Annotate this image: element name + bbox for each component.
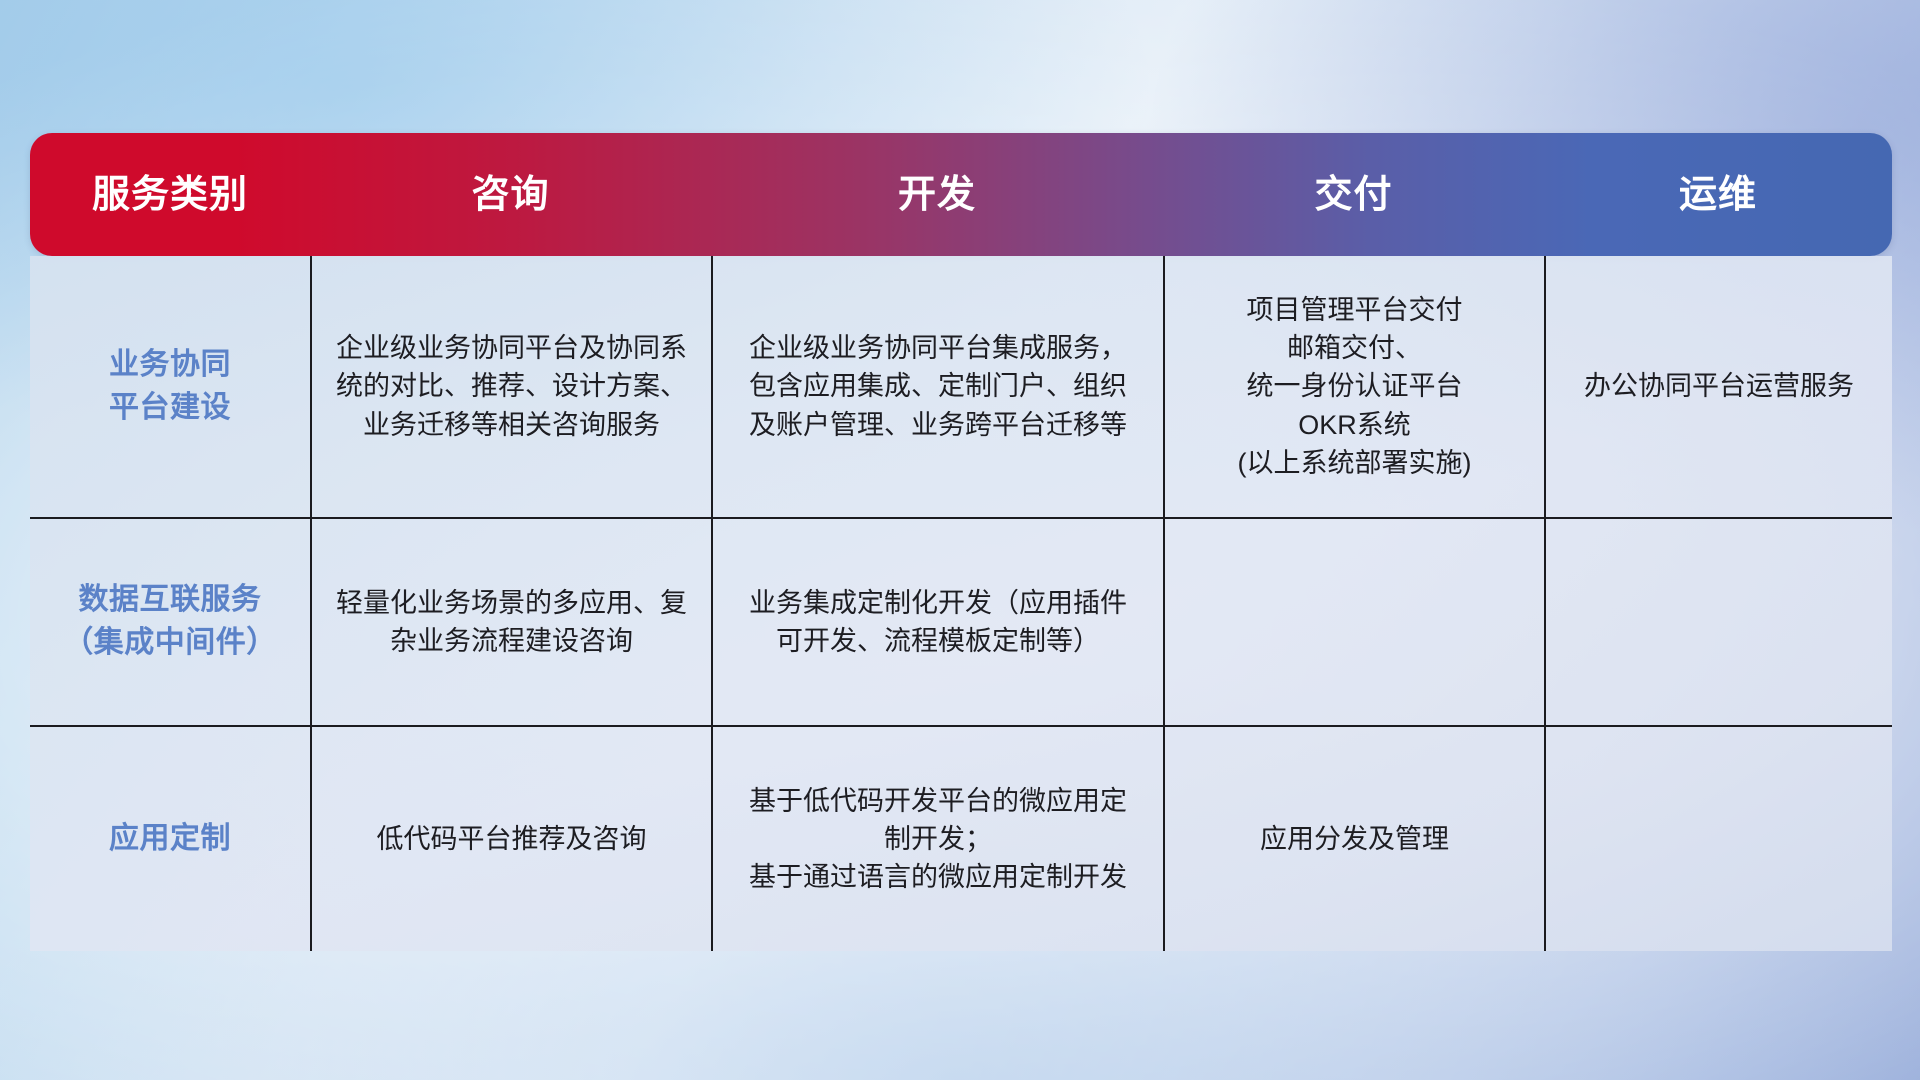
table-header-row: 服务类别 咨询 开发 交付 运维 [30,133,1892,256]
table-row: 数据互联服务 （集成中间件） 轻量化业务场景的多应用、复 杂业务流程建设咨询 业… [30,517,1892,725]
cell-consulting-row3: 低代码平台推荐及咨询 [310,727,711,951]
column-header-operations: 运维 [1544,176,1892,214]
cell-text: 办公协同平台运营服务 [1584,367,1854,405]
table-row: 业务协同 平台建设 企业级业务协同平台及协同系 统的对比、推荐、设计方案、 业务… [30,256,1892,517]
column-header-consulting: 咨询 [310,176,711,214]
cell-text: 应用分发及管理 [1260,820,1449,858]
column-header-category: 服务类别 [30,176,310,214]
cell-delivery-row1: 项目管理平台交付 邮箱交付、 统一身份认证平台 OKR系统 (以上系统部署实施) [1163,256,1544,517]
cell-text: 低代码平台推荐及咨询 [377,820,647,858]
cell-delivery-row3: 应用分发及管理 [1163,727,1544,951]
row-label-text: 应用定制 [109,818,231,861]
column-header-development: 开发 [711,176,1163,214]
cell-consulting-row2: 轻量化业务场景的多应用、复 杂业务流程建设咨询 [310,519,711,725]
row-label-text: 数据互联服务 （集成中间件） [63,579,277,664]
cell-text: 轻量化业务场景的多应用、复 杂业务流程建设咨询 [336,584,687,661]
service-category-table: 服务类别 咨询 开发 交付 运维 业务协同 平台建设 企业级业务协同平台及协同系… [30,133,1892,951]
cell-text: 业务集成定制化开发（应用插件 可开发、流程模板定制等） [749,584,1127,661]
row-label-text: 业务协同 平台建设 [109,344,231,429]
row-label-cell-business-collaboration: 业务协同 平台建设 [30,256,310,517]
cell-delivery-row2 [1163,519,1544,725]
cell-operations-row2 [1544,519,1892,725]
cell-operations-row3 [1544,727,1892,951]
cell-text: 基于低代码开发平台的微应用定 制开发； 基于通过语言的微应用定制开发 [749,782,1127,897]
cell-consulting-row1: 企业级业务协同平台及协同系 统的对比、推荐、设计方案、 业务迁移等相关咨询服务 [310,256,711,517]
cell-development-row1: 企业级业务协同平台集成服务， 包含应用集成、定制门户、组织 及账户管理、业务跨平… [711,256,1163,517]
cell-operations-row1: 办公协同平台运营服务 [1544,256,1892,517]
cell-text: 企业级业务协同平台及协同系 统的对比、推荐、设计方案、 业务迁移等相关咨询服务 [336,329,687,444]
table-body: 业务协同 平台建设 企业级业务协同平台及协同系 统的对比、推荐、设计方案、 业务… [30,256,1892,951]
column-header-delivery: 交付 [1163,176,1544,214]
cell-text: 企业级业务协同平台集成服务， 包含应用集成、定制门户、组织 及账户管理、业务跨平… [749,329,1127,444]
row-label-cell-app-customization: 应用定制 [30,727,310,951]
cell-development-row2: 业务集成定制化开发（应用插件 可开发、流程模板定制等） [711,519,1163,725]
cell-text: 项目管理平台交付 邮箱交付、 统一身份认证平台 OKR系统 (以上系统部署实施) [1238,291,1472,483]
table-row: 应用定制 低代码平台推荐及咨询 基于低代码开发平台的微应用定 制开发； 基于通过… [30,725,1892,951]
cell-development-row3: 基于低代码开发平台的微应用定 制开发； 基于通过语言的微应用定制开发 [711,727,1163,951]
row-label-cell-data-interconnect: 数据互联服务 （集成中间件） [30,519,310,725]
